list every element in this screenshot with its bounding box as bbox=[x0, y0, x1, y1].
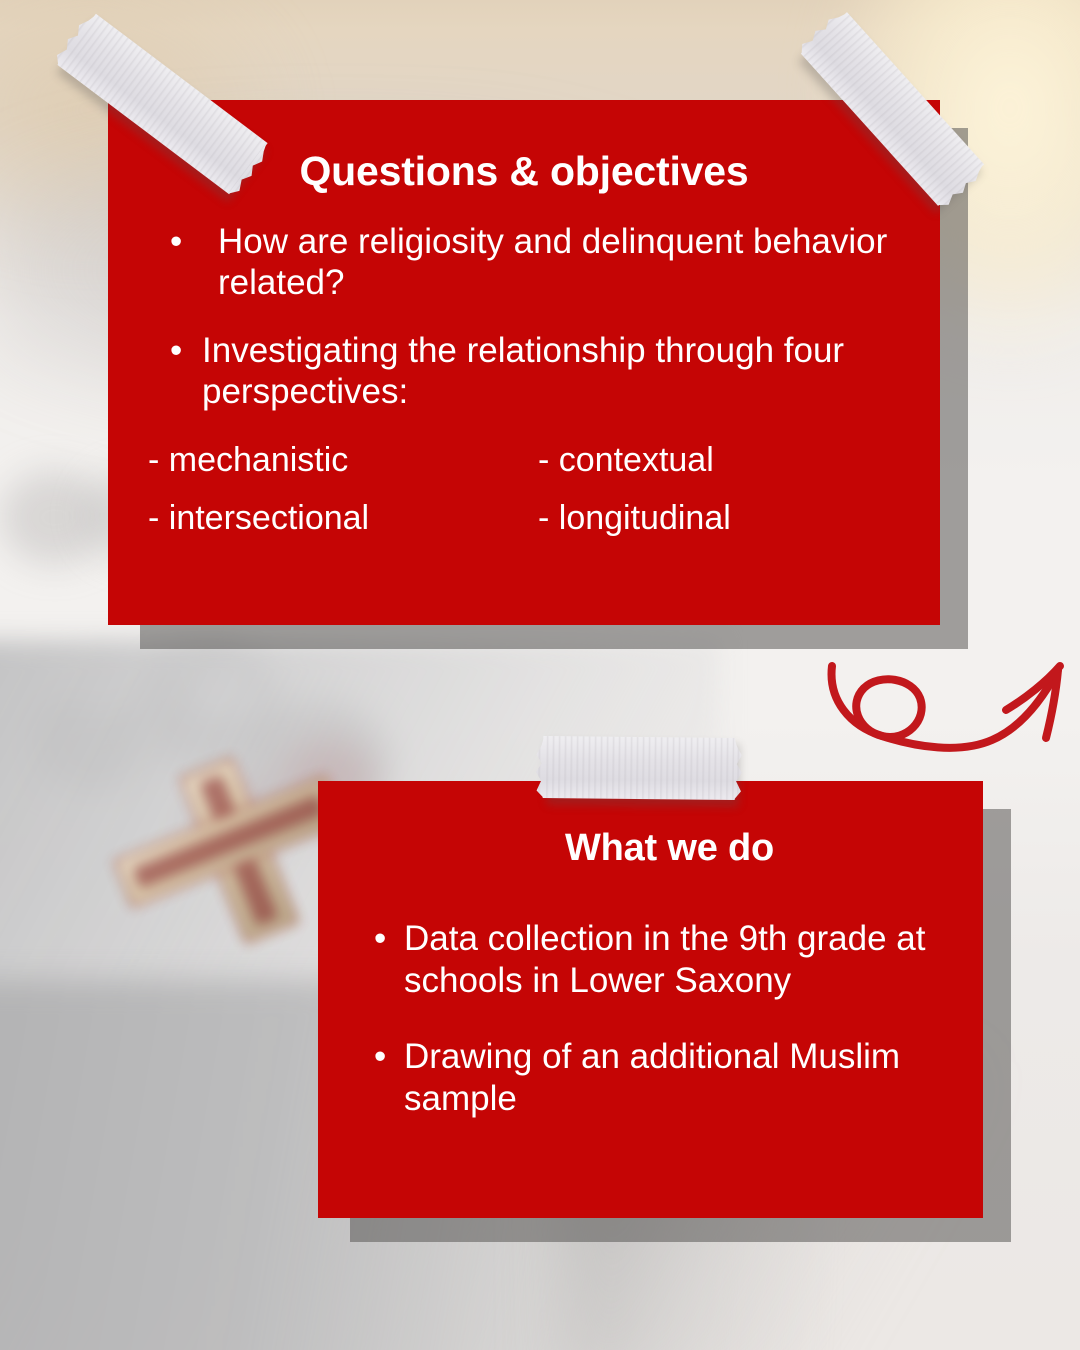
poster-canvas: Questions & objectives • How are religio… bbox=[0, 0, 1080, 1350]
list-item: • Drawing of an additional Muslim sample bbox=[370, 1036, 933, 1120]
perspectives-grid: - mechanistic - contextual - intersectio… bbox=[148, 438, 940, 540]
page-title-what-we-do: What we do bbox=[318, 827, 983, 870]
perspective-contextual: - contextual bbox=[538, 438, 940, 482]
list-item: • How are religiosity and delinquent beh… bbox=[166, 221, 900, 304]
card-what-we-do: What we do • Data collection in the 9th … bbox=[318, 781, 983, 1218]
perspective-mechanistic: - mechanistic bbox=[148, 438, 538, 482]
questions-bullet-list: • How are religiosity and delinquent beh… bbox=[108, 221, 940, 412]
perspective-longitudinal: - longitudinal bbox=[538, 496, 940, 540]
list-item-label: Drawing of an additional Muslim sample bbox=[370, 1036, 933, 1120]
bullet-marker-icon: • bbox=[374, 918, 386, 960]
bullet-marker-icon: • bbox=[170, 330, 182, 371]
bullet-marker-icon: • bbox=[170, 221, 182, 262]
bullet-marker-icon: • bbox=[374, 1036, 386, 1078]
masking-tape-middle bbox=[543, 736, 736, 800]
list-item: • Investigating the relationship through… bbox=[166, 330, 900, 413]
list-item: • Data collection in the 9th grade at sc… bbox=[370, 918, 933, 1002]
what-we-do-bullet-list: • Data collection in the 9th grade at sc… bbox=[318, 918, 983, 1120]
list-item-label: How are religiosity and delinquent behav… bbox=[182, 221, 900, 304]
list-item-label: Data collection in the 9th grade at scho… bbox=[370, 918, 933, 1002]
perspective-intersectional: - intersectional bbox=[148, 496, 538, 540]
list-item-label: Investigating the relationship through f… bbox=[166, 330, 900, 413]
